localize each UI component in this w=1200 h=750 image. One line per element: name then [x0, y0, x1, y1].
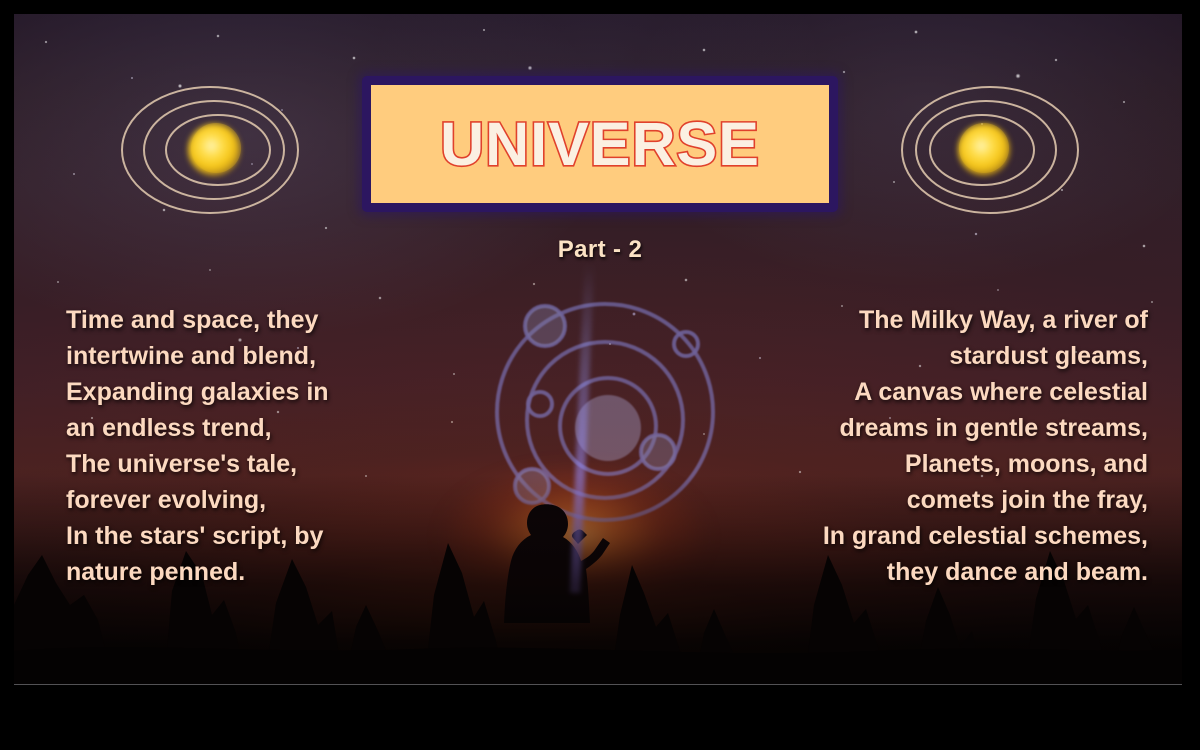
sun-glow-right: [958, 124, 1010, 176]
subtitle: Part - 2: [0, 236, 1200, 264]
right-poem-text: The Milky Way, a river of stardust gleam…: [738, 302, 1148, 590]
photo-bottom-edge: [14, 684, 1182, 685]
slide-root: UNIVERSE Part - 2 Time and space, they i…: [0, 0, 1200, 750]
title-plaque: UNIVERSE: [362, 76, 838, 212]
sun-glow-left: [188, 124, 240, 176]
left-poem-text: Time and space, they intertwine and blen…: [66, 302, 406, 590]
page-title: UNIVERSE: [440, 114, 760, 175]
